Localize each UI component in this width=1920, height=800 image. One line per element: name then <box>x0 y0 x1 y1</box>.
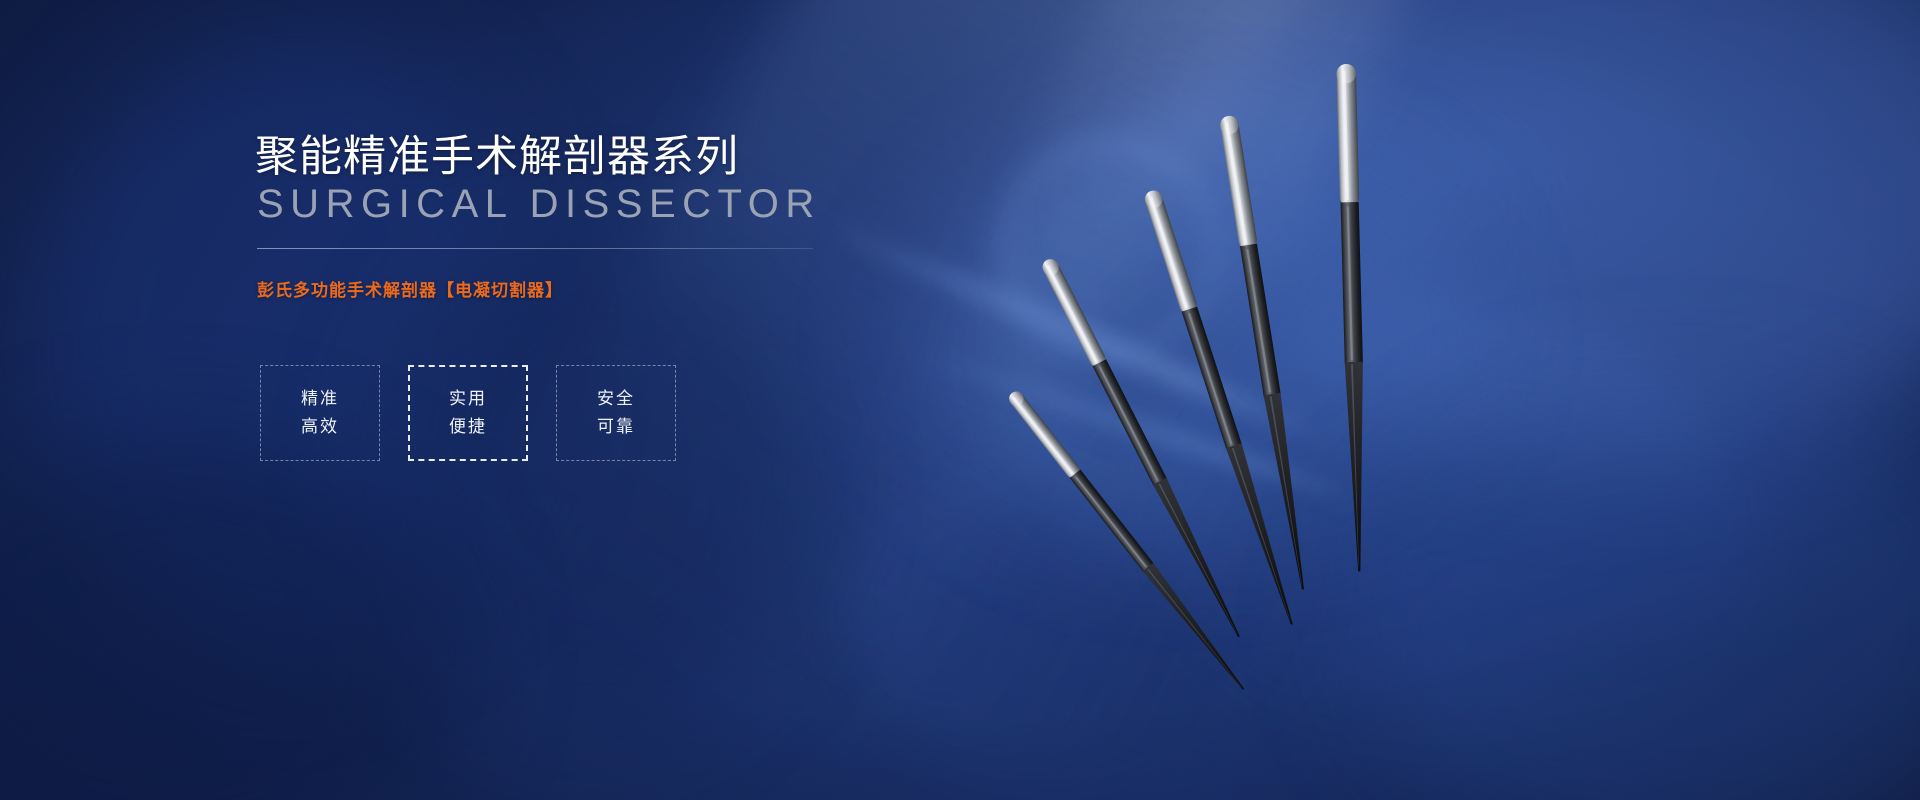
feature-box-group: 精准 高效 实用 便捷 安全 可靠 <box>260 365 676 461</box>
feature-line-1: 安全 <box>597 385 635 413</box>
hero-banner: 聚能精准手术解剖器系列 SURGICAL DISSECTOR 彭氏多功能手术解剖… <box>0 0 1920 800</box>
feature-line-2: 便捷 <box>449 413 487 441</box>
feature-line-2: 可靠 <box>597 413 635 441</box>
title-divider <box>257 248 813 249</box>
feature-line-1: 精准 <box>301 385 339 413</box>
page-subtitle-english: SURGICAL DISSECTOR <box>257 180 821 228</box>
product-name-label: 彭氏多功能手术解剖器【电凝切割器】 <box>257 276 563 301</box>
hero-text-block: 聚能精准手术解剖器系列 SURGICAL DISSECTOR 彭氏多功能手术解剖… <box>255 0 895 800</box>
feature-box-practical: 实用 便捷 <box>408 365 528 461</box>
page-title: 聚能精准手术解剖器系列 <box>255 132 739 184</box>
feature-box-precision: 精准 高效 <box>260 365 380 461</box>
feature-line-2: 高效 <box>301 413 339 441</box>
feature-box-safety: 安全 可靠 <box>556 365 676 461</box>
feature-line-1: 实用 <box>449 385 487 413</box>
